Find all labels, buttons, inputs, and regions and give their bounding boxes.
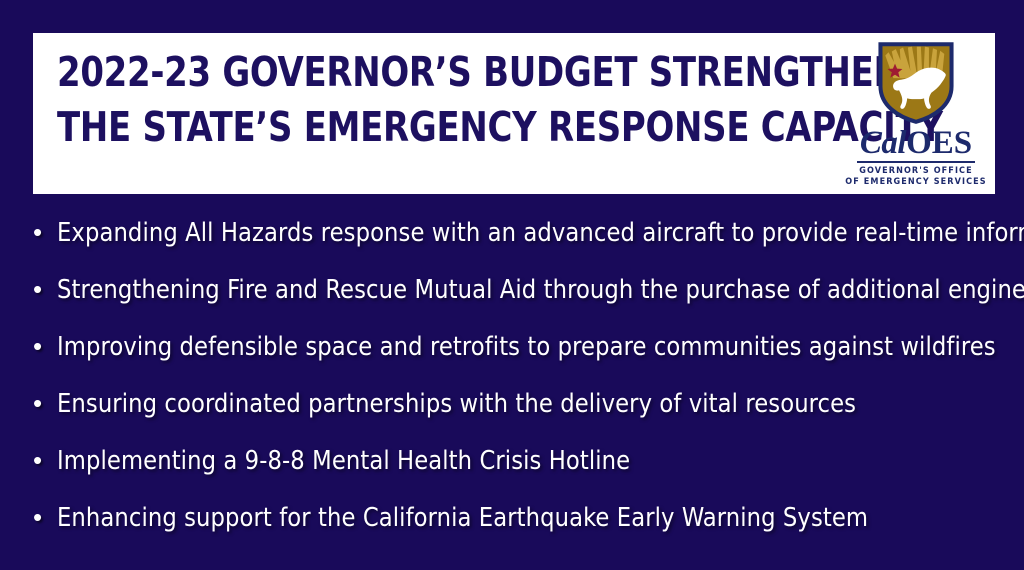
- list-item-label: Expanding All Hazards response with an a…: [57, 213, 1024, 253]
- list-item: • Improving defensible space and retrofi…: [33, 326, 1013, 383]
- bullet-marker-icon: •: [33, 497, 57, 537]
- page-title: 2022-23 GOVERNOR’S BUDGET STRENGTHENS TH…: [57, 45, 811, 154]
- bullet-marker-icon: •: [33, 440, 57, 480]
- slide-canvas: 2022-23 GOVERNOR’S BUDGET STRENGTHENS TH…: [0, 0, 1024, 570]
- logo-divider: [857, 161, 975, 163]
- page-title-line-2: THE STATE’S EMERGENCY RESPONSE CAPACITY: [57, 100, 811, 155]
- bullet-marker-icon: •: [33, 212, 57, 252]
- list-item-label: Implementing a 9-8-8 Mental Health Crisi…: [57, 441, 630, 481]
- cal-oes-logo: CalOES GOVERNOR'S OFFICE OF EMERGENCY SE…: [845, 39, 987, 189]
- logo-wordmark: CalOES: [860, 127, 972, 160]
- logo-wordmark-cal: Cal: [860, 125, 906, 161]
- logo-subtitle: GOVERNOR'S OFFICE OF EMERGENCY SERVICES: [845, 166, 986, 189]
- list-item-label: Improving defensible space and retrofits…: [57, 327, 996, 367]
- bullet-marker-icon: •: [33, 269, 57, 309]
- list-item: • Implementing a 9-8-8 Mental Health Cri…: [33, 440, 1013, 497]
- logo-wordmark-oes: OES: [906, 125, 972, 161]
- list-item: • Enhancing support for the California E…: [33, 497, 1013, 554]
- list-item: • Expanding All Hazards response with an…: [33, 212, 1013, 269]
- header-panel: 2022-23 GOVERNOR’S BUDGET STRENGTHENS TH…: [33, 33, 995, 194]
- bullet-marker-icon: •: [33, 383, 57, 423]
- list-item: • Ensuring coordinated partnerships with…: [33, 383, 1013, 440]
- cal-oes-shield-icon: [874, 41, 958, 125]
- bullet-list: • Expanding All Hazards response with an…: [33, 212, 1013, 554]
- list-item-label: Enhancing support for the California Ear…: [57, 498, 868, 538]
- list-item-label: Strengthening Fire and Rescue Mutual Aid…: [57, 270, 1024, 310]
- logo-subtitle-line-2: OF EMERGENCY SERVICES: [845, 177, 986, 188]
- list-item: • Strengthening Fire and Rescue Mutual A…: [33, 269, 1013, 326]
- list-item-label: Ensuring coordinated partnerships with t…: [57, 384, 856, 424]
- logo-subtitle-line-1: GOVERNOR'S OFFICE: [845, 166, 986, 177]
- shield-graphic: [874, 41, 958, 125]
- page-title-line-1: 2022-23 GOVERNOR’S BUDGET STRENGTHENS: [57, 45, 811, 100]
- bullet-marker-icon: •: [33, 326, 57, 366]
